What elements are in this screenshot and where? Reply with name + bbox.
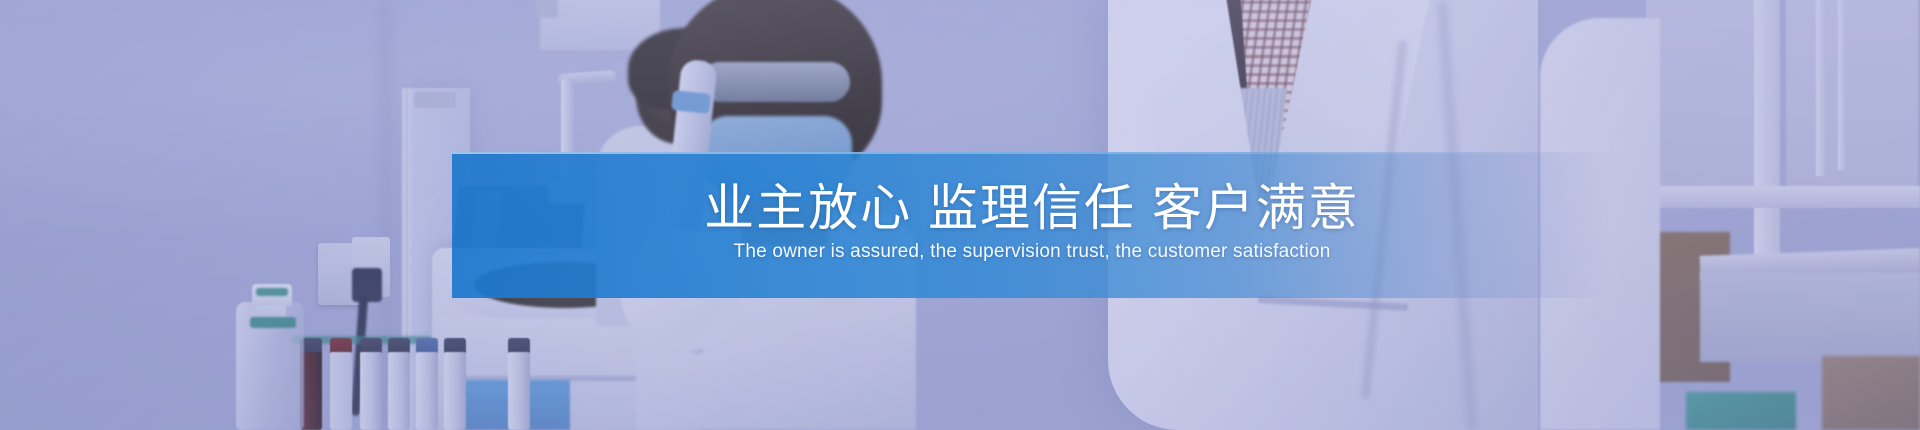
banner-subline: The owner is assured, the supervision tr… [734, 241, 1331, 264]
banner-headline: 业主放心 监理信任 客户满意 [704, 182, 1360, 235]
hero-banner: 业主放心 监理信任 客户满意 The owner is assured, the… [0, 0, 1920, 430]
caption-text-block: 业主放心 监理信任 客户满意 The owner is assured, the… [452, 152, 1612, 298]
